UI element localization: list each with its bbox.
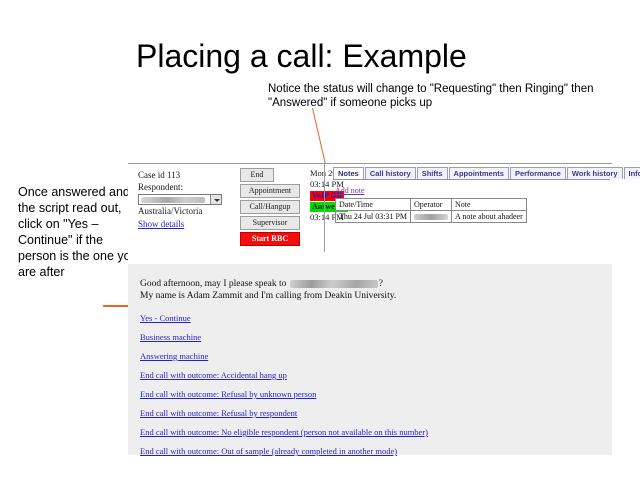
link-end-call-refusal-respondent[interactable]: End call with outcome: Refusal by respon…	[140, 408, 297, 418]
cell-operator	[411, 211, 452, 223]
case-info-block: Case id 113 Respondent: Australia/Victor…	[138, 170, 238, 230]
tab-notes[interactable]: Notes	[333, 167, 364, 179]
supervisor-button[interactable]: Supervisor	[240, 216, 300, 230]
region-label: Australia/Victoria	[138, 206, 238, 218]
script-greeting-suffix: ?	[379, 279, 383, 289]
end-button[interactable]: End	[240, 168, 274, 182]
table-header-row: Date/Time Operator Note	[336, 199, 527, 211]
appointment-button[interactable]: Appointment	[240, 184, 300, 198]
respondent-select[interactable]	[138, 194, 222, 205]
link-end-call-refusal-unknown-person[interactable]: End call with outcome: Refusal by unknow…	[140, 389, 316, 399]
add-note-link[interactable]: Add note	[335, 186, 365, 195]
cell-note: A note about ahadeer	[452, 211, 527, 223]
tab-bar: Notes Call history Shifts Appointments P…	[333, 167, 610, 180]
case-id-label: Case id 113	[138, 170, 238, 182]
column-header-operator: Operator	[411, 199, 452, 211]
cell-datetime: Thu 24 Jul 03:31 PM	[336, 211, 411, 223]
script-outcome-links: Yes - Continue Business machine Answerin…	[140, 313, 612, 456]
tab-work-history[interactable]: Work history	[567, 167, 623, 179]
annotation-status-note: Notice the status will change to "Reques…	[268, 82, 608, 110]
link-end-call-no-eligible-respondent[interactable]: End call with outcome: No eligible respo…	[140, 427, 428, 437]
link-yes-continue[interactable]: Yes - Continue	[140, 313, 191, 323]
call-actions-group: End Appointment Call/Hangup Supervisor S…	[240, 168, 302, 248]
tab-call-history[interactable]: Call history	[365, 167, 416, 179]
respondent-name-redaction	[290, 280, 378, 288]
start-rbc-button[interactable]: Start RBC	[240, 232, 300, 246]
call-hangup-button[interactable]: Call/Hangup	[240, 200, 300, 214]
operator-redaction	[414, 214, 448, 220]
link-end-call-out-of-sample[interactable]: End call with outcome: Out of sample (al…	[140, 446, 397, 456]
tab-info[interactable]: Info	[624, 167, 640, 179]
annotation-click-yes-note: Once answered and the script read out, c…	[18, 184, 138, 280]
script-greeting-prefix: Good afternoon, may I please speak to	[140, 279, 289, 289]
notes-table: Date/Time Operator Note Thu 24 Jul 03:31…	[335, 198, 527, 223]
header-divider	[324, 164, 325, 252]
tab-shifts[interactable]: Shifts	[417, 167, 448, 179]
link-business-machine[interactable]: Business machine	[140, 332, 201, 342]
tab-appointments[interactable]: Appointments	[449, 167, 509, 179]
page-title: Placing a call: Example	[136, 38, 467, 75]
respondent-label: Respondent:	[138, 182, 238, 194]
call-application-window: Case id 113 Respondent: Australia/Victor…	[128, 163, 612, 455]
script-panel: Good afternoon, may I please speak to ? …	[128, 263, 612, 455]
script-greeting-line: Good afternoon, may I please speak to ?	[140, 278, 612, 290]
table-row[interactable]: Thu 24 Jul 03:31 PM A note about ahadeer	[336, 211, 527, 223]
respondent-redaction	[141, 197, 205, 203]
column-header-datetime: Date/Time	[336, 199, 411, 211]
script-intro-line: My name is Adam Zammit and I'm calling f…	[140, 290, 612, 302]
details-panel: Notes Call history Shifts Appointments P…	[333, 167, 610, 252]
chevron-down-icon[interactable]	[210, 195, 221, 204]
column-header-note: Note	[452, 199, 527, 211]
tab-performance[interactable]: Performance	[510, 167, 566, 179]
link-answering-machine[interactable]: Answering machine	[140, 351, 208, 361]
link-end-call-accidental-hangup[interactable]: End call with outcome: Accidental hang u…	[140, 370, 287, 380]
show-details-link[interactable]: Show details	[138, 219, 184, 231]
app-header-strip: Case id 113 Respondent: Australia/Victor…	[128, 163, 612, 252]
